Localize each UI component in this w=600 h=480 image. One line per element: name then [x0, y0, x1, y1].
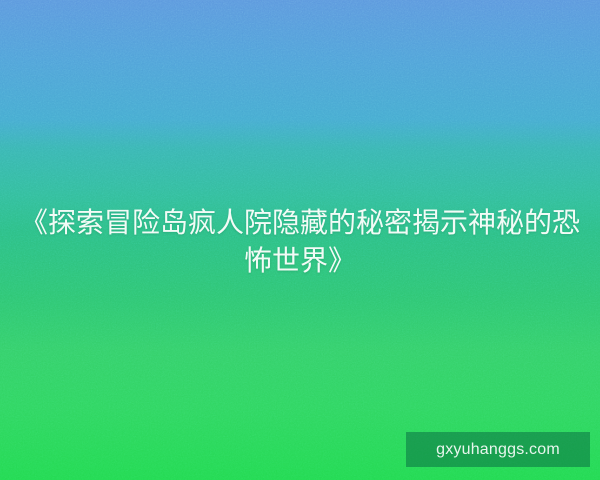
watermark-badge: gxyuhanggs.com — [406, 432, 590, 467]
watermark-label: gxyuhanggs.com — [436, 442, 560, 458]
title-card-image: 《探索冒险岛疯人院隐藏的秘密揭示神秘的恐怖世界》 gxyuhanggs.com — [0, 0, 600, 480]
page-title: 《探索冒险岛疯人院隐藏的秘密揭示神秘的恐怖世界》 — [0, 204, 600, 280]
